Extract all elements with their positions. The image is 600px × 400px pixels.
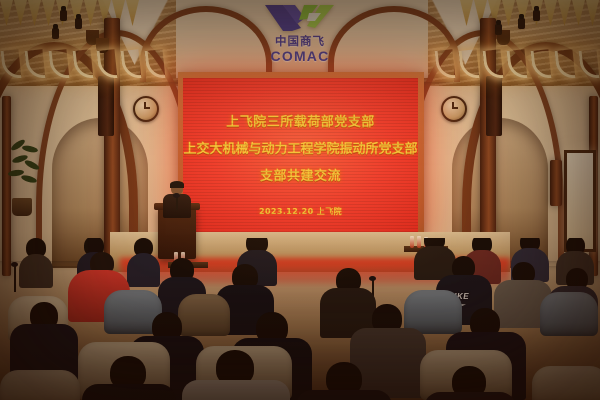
led-strip-right <box>436 50 598 79</box>
audience-person <box>512 262 535 284</box>
audience-person <box>336 268 361 293</box>
ceiling-spotlight-6 <box>495 24 502 35</box>
window-right <box>564 150 596 252</box>
ceiling-spotlight-1 <box>60 10 67 21</box>
audience-person <box>30 302 58 330</box>
ceiling-spotlight-5 <box>518 18 525 29</box>
wall-speaker-left <box>98 76 114 136</box>
comac-logo-en-text: COMAC <box>271 49 330 64</box>
audience-person <box>372 304 402 334</box>
wall-speaker-right <box>486 76 502 136</box>
audience-person <box>452 366 486 398</box>
screen-title-line-2: 上交大机械与动力工程学院振动所党支部 <box>183 138 417 157</box>
chair <box>532 366 600 400</box>
comac-logo: 中国商飞 COMAC <box>252 4 348 70</box>
podium-microphone-stem <box>176 196 178 210</box>
chair <box>178 294 230 336</box>
audience-person <box>26 238 46 258</box>
audience-person <box>110 356 146 390</box>
plant-pot-left <box>12 198 32 216</box>
audience-person-white-coat <box>216 350 254 386</box>
audience-person <box>256 312 288 344</box>
ceiling-spotlight-2 <box>75 18 82 29</box>
chair <box>540 292 598 336</box>
comac-logo-cn-text: 中国商飞 <box>275 33 325 49</box>
chair <box>0 370 80 400</box>
audience-person <box>152 312 182 342</box>
screen-title-line-1: 上飞院三所载荷部党支部 <box>226 111 375 130</box>
picture-frame-right <box>550 160 562 206</box>
comac-logo-mark <box>263 4 337 32</box>
ceiling-spotlight-3 <box>52 28 59 39</box>
led-screen: 上飞院三所载荷部党支部 上交大机械与动力工程学院振动所党支部 支部共建交流 20… <box>183 78 418 232</box>
audience-person-red-jacket <box>90 252 114 275</box>
audience-person <box>326 362 362 396</box>
audience-person <box>170 258 194 282</box>
potted-plant-left <box>8 142 44 202</box>
screen-title-line-3: 支部共建交流 <box>260 165 341 184</box>
wall-clock-right <box>441 96 467 122</box>
photo-scene: 上飞院三所载荷部党支部 上交大机械与动力工程学院振动所党支部 支部共建交流 20… <box>0 0 600 400</box>
podium-microphone-head <box>173 193 180 198</box>
screen-date-location: 2023.12.20 上飞院 <box>259 206 342 217</box>
audience-person <box>566 238 585 255</box>
wall-clock-left <box>133 96 159 122</box>
audience-person <box>566 268 588 290</box>
audience-person <box>246 238 268 254</box>
audience-area: NIKE <box>0 238 600 400</box>
ceiling-spotlight-4 <box>533 10 540 21</box>
speaker-hair <box>170 181 184 188</box>
audience-person-nike: NIKE <box>452 256 475 279</box>
audience-person <box>424 238 445 250</box>
audience-person <box>134 238 153 257</box>
audience-person <box>232 264 258 290</box>
led-strip-left <box>2 50 164 79</box>
audience-person <box>472 238 492 254</box>
audience-person <box>470 308 500 338</box>
audience-person <box>520 238 540 252</box>
